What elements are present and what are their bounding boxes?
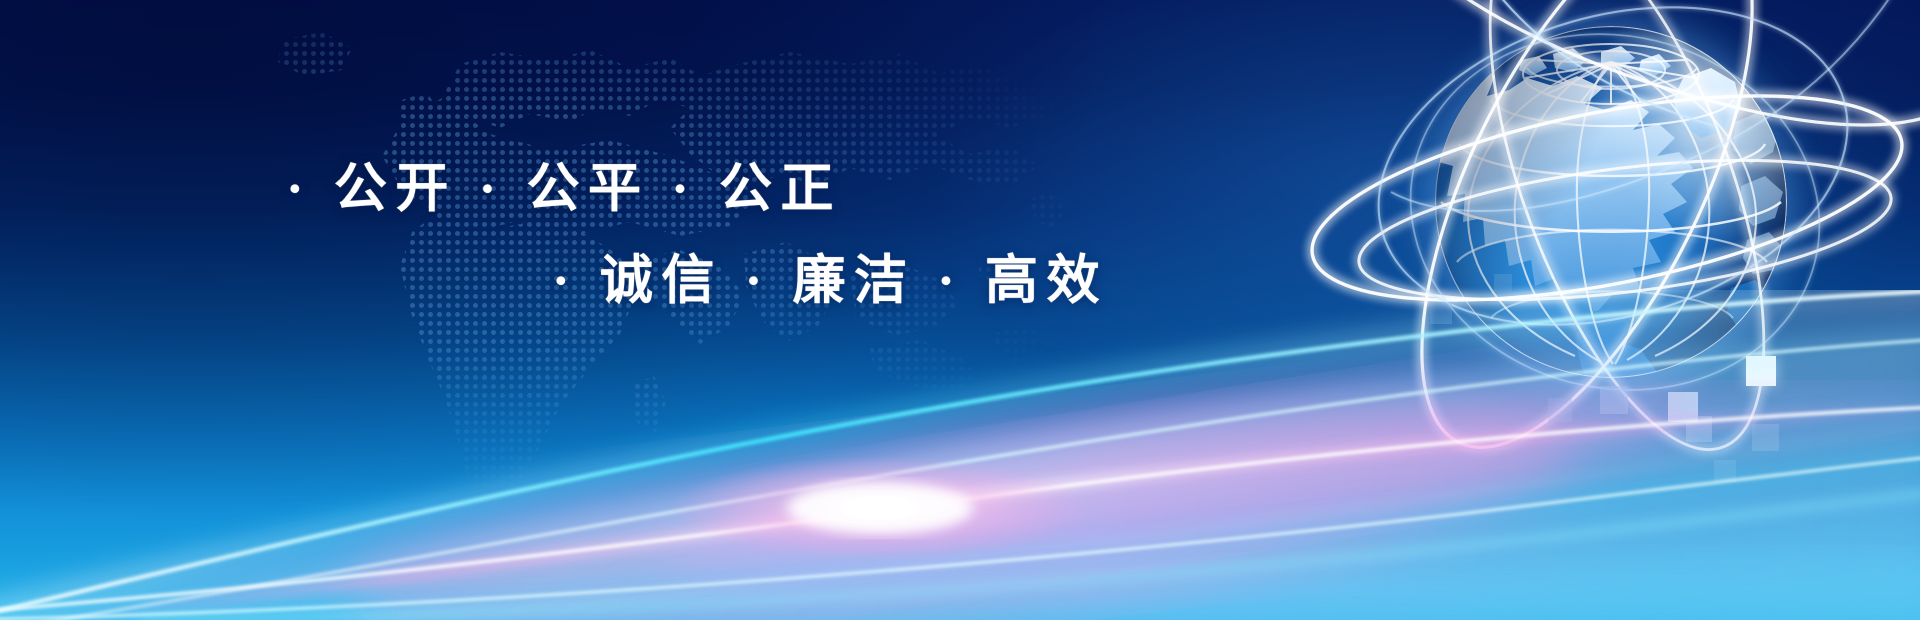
light-wave-graphic [0,290,1920,620]
banner-root: · 公开 · 公平 · 公正 · 诚信 · 廉洁 · 高效 [0,0,1920,620]
slogan-line-1: · 公开 · 公平 · 公正 [286,146,842,222]
slogan-line-2: · 诚信 · 廉洁 · 高效 [552,238,1108,314]
